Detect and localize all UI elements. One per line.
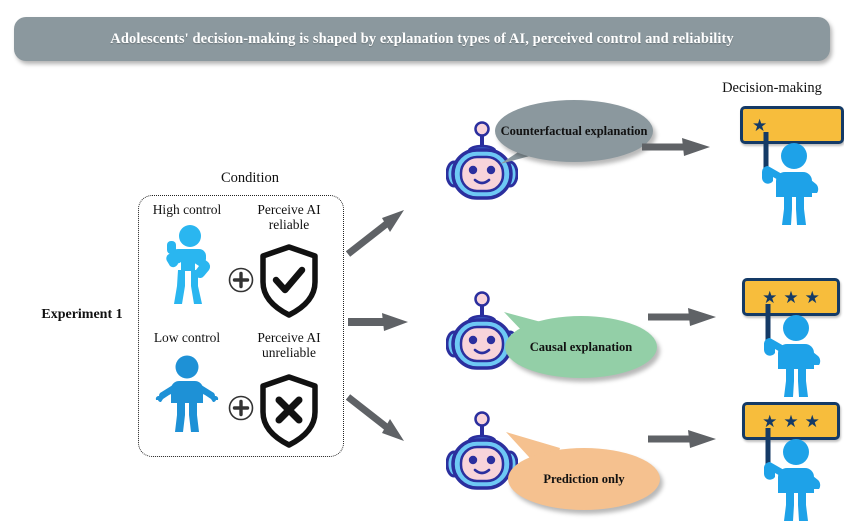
condition-reliability-label-1: Perceive AI reliable [243, 202, 335, 232]
condition-control-label-2: Low control [141, 330, 233, 345]
speech-bubble-causal: Causal explanation [505, 316, 657, 378]
decision-person-3 [738, 422, 844, 522]
page-title: Adolescents' decision-making is shaped b… [110, 31, 733, 48]
arrow-agent-to-decision-1 [640, 134, 712, 160]
condition-control-label-1: High control [141, 202, 233, 217]
condition-reliability-label-2: Perceive AI unreliable [243, 330, 335, 360]
explanation-label-1: Counterfactual explanation [501, 124, 648, 139]
condition-control-cell-2: Low control [141, 330, 233, 431]
experiment-label: Experiment 1 [22, 307, 142, 323]
condition-reliability-cell-2: Perceive AI unreliable [243, 330, 335, 446]
condition-box: High control Perceive AI reliab [138, 195, 344, 457]
explanation-label-3: Prediction only [543, 472, 624, 487]
condition-row-low-control: Low control Perceive AI unreliable [139, 330, 343, 452]
person-shrugging-icon [141, 347, 233, 431]
condition-row-high-control: High control Perceive AI reliab [139, 202, 343, 324]
decision-person-1 [736, 126, 844, 226]
condition-control-cell-1: High control [141, 202, 233, 303]
arrow-condition-to-agent-1 [346, 210, 406, 258]
decision-person-2 [738, 298, 844, 398]
speech-bubble-prediction: Prediction only [508, 448, 660, 510]
speech-bubble-counterfactual: Counterfactual explanation [495, 100, 653, 162]
arrow-agent-to-decision-3 [646, 426, 718, 452]
arrow-agent-to-decision-2 [646, 304, 718, 330]
condition-reliability-cell-1: Perceive AI reliable [243, 202, 335, 318]
condition-title: Condition [160, 170, 340, 187]
person-flexing-icon [141, 219, 233, 303]
explanation-label-2: Causal explanation [530, 340, 632, 355]
decision-title: Decision-making [700, 80, 844, 97]
shield-x-icon [243, 362, 335, 446]
shield-check-icon [243, 234, 335, 318]
title-banner: Adolescents' decision-making is shaped b… [14, 17, 830, 61]
